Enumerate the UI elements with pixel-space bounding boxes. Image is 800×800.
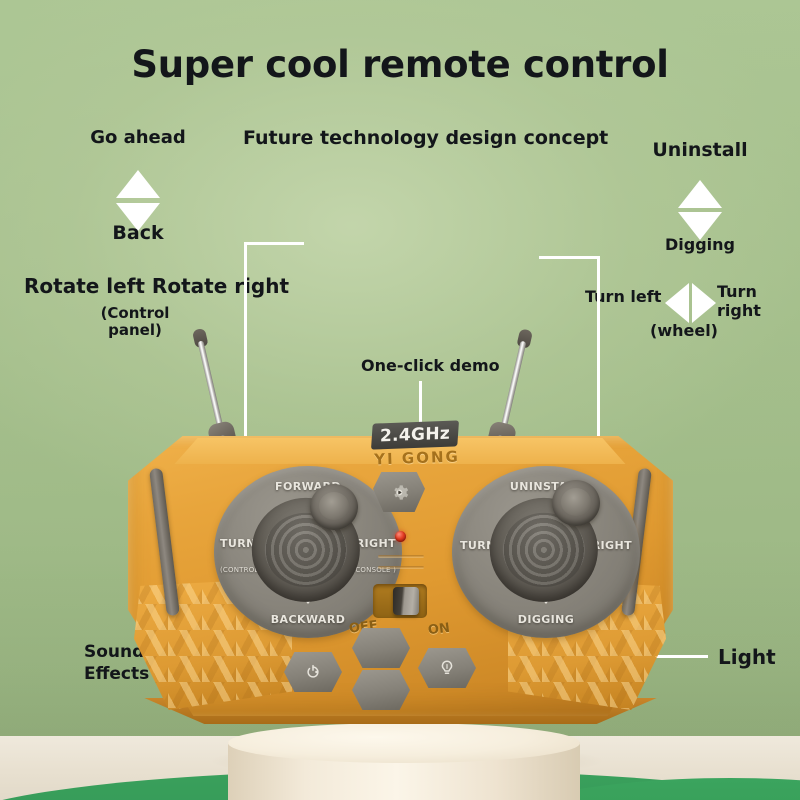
annotation-uninstall: Uninstall (620, 140, 780, 162)
light-button[interactable] (418, 648, 476, 688)
arrow-left-icon (665, 283, 689, 323)
annotation-back: Back (78, 223, 198, 245)
podium-top (228, 723, 580, 763)
speaker-slit (378, 555, 424, 558)
annotation-digging: Digging (620, 236, 780, 254)
horn-icon (304, 663, 322, 681)
product-photo-scene: Super cool remote control Future technol… (0, 0, 800, 800)
sound-effects-button[interactable] (284, 652, 342, 692)
arrow-up-icon-left (116, 170, 160, 198)
brand-label: YI GONG (372, 447, 463, 468)
annotation-turn-right-line1: Turn (717, 283, 757, 301)
annotation-control-panel-line1: (Control (80, 305, 190, 322)
power-switch[interactable] (373, 584, 427, 618)
button-cluster (278, 626, 508, 702)
joystick-knob-left[interactable] (310, 484, 358, 530)
gear-icon (390, 483, 409, 502)
arrow-up-icon-right (678, 180, 722, 208)
frequency-badge: 2.4GHz (371, 420, 459, 449)
bulb-icon (438, 659, 456, 677)
left-stick-backward-label: BACKWARD (271, 613, 345, 626)
page-subtitle: Future technology design concept (243, 128, 608, 150)
joystick-panel-right: UNINSTALL TURN LEFT TURN RIGHT DIGGING (452, 466, 640, 638)
aux-button-top[interactable] (352, 628, 410, 668)
speaker-slit (378, 566, 424, 569)
annotation-control-panel-line2: panel) (80, 322, 190, 339)
one-click-demo-button[interactable] (373, 472, 425, 512)
annotation-go-ahead: Go ahead (78, 128, 198, 149)
remote-control-device: 2.4GHz YI GONG FORWARD TURN LEFT (CONTRO… (110, 398, 690, 728)
annotation-light: Light (718, 646, 776, 669)
power-switch-knob[interactable] (393, 587, 419, 615)
frequency-badge-label: 2.4GHz (380, 424, 451, 447)
page-title: Super cool remote control (0, 44, 800, 87)
aux-button-bottom[interactable] (352, 670, 410, 710)
right-stick-digging-label: DIGGING (518, 613, 574, 626)
annotation-turn-right-line2: right (717, 302, 761, 320)
annotation-wheel-note: (wheel) (650, 322, 718, 340)
annotation-one-click-demo: One-click demo (361, 357, 500, 375)
arrow-right-icon (692, 283, 716, 323)
status-led (395, 531, 406, 542)
joystick-knob-right[interactable] (552, 480, 600, 526)
